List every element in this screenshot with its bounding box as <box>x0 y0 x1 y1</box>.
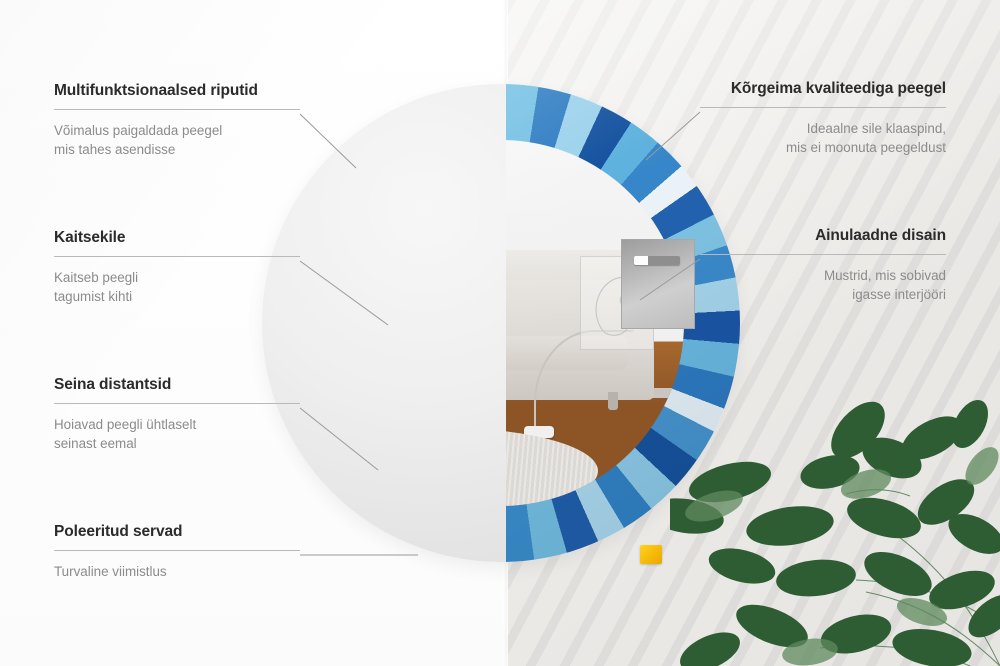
callout-desc: Mustrid, mis sobivad igasse interjööri <box>700 266 946 304</box>
callout-title: Kõrgeima kvaliteediga peegel <box>700 80 946 98</box>
callout-rule <box>700 254 946 255</box>
callout-korgeima-kvaliteediga-peegel: Kõrgeima kvaliteediga peegel Ideaalne si… <box>700 80 946 157</box>
foliage-leaves-icon <box>670 366 1000 666</box>
callout-rule <box>54 403 300 404</box>
callout-title: Poleeritud servad <box>54 523 300 541</box>
callout-desc: Hoiavad peegli ühtlaselt seinast eemal <box>54 415 300 453</box>
callout-desc: Võimalus paigaldada peegel mis tahes ase… <box>54 121 300 159</box>
callout-desc: Ideaalne sile klaaspind, mis ei moonuta … <box>700 119 946 157</box>
callout-seina-distantsid: Seina distantsid Hoiavad peegli ühtlasel… <box>54 376 300 453</box>
callout-rule <box>54 550 300 551</box>
callout-rule <box>54 109 300 110</box>
callout-desc: Kaitseb peegli tagumist kihti <box>54 268 300 306</box>
infographic-canvas: Multifunktsionaalsed riputid Võimalus pa… <box>0 0 1000 666</box>
callout-multifunktsionaalsed-riputid: Multifunktsionaalsed riputid Võimalus pa… <box>54 82 300 159</box>
metal-hanger-plate <box>621 239 695 329</box>
callout-ainulaadne-disain: Ainulaadne disain Mustrid, mis sobivad i… <box>700 227 946 304</box>
callout-rule <box>54 256 300 257</box>
yellow-wall-spacer <box>640 545 662 564</box>
hanger-keyhole-slot <box>634 256 680 265</box>
callout-title: Ainulaadne disain <box>700 227 946 245</box>
plant-foliage <box>670 366 1000 666</box>
callout-rule <box>700 107 946 108</box>
callout-title: Seina distantsid <box>54 376 300 394</box>
callout-title: Kaitsekile <box>54 229 300 247</box>
mirror-product <box>262 84 740 562</box>
callout-title: Multifunktsionaalsed riputid <box>54 82 300 100</box>
callout-kaitsekile: Kaitsekile Kaitseb peegli tagumist kihti <box>54 229 300 306</box>
callout-desc: Turvaline viimistlus <box>54 562 300 581</box>
callout-poleeritud-servad: Poleeritud servad Turvaline viimistlus <box>54 523 300 581</box>
